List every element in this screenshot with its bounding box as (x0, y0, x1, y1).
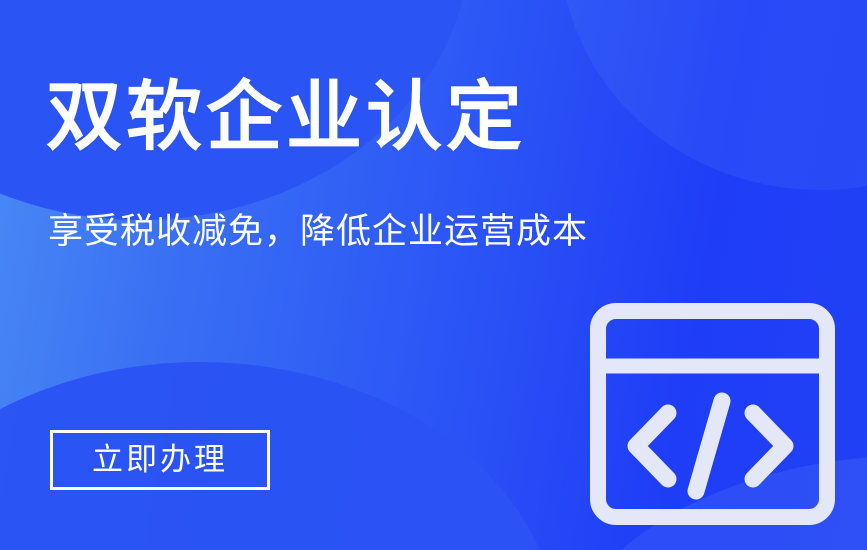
apply-now-button[interactable]: 立即办理 (50, 430, 270, 490)
code-window-icon (590, 303, 835, 525)
promo-banner: 双软企业认定 享受税收减免，降低企业运营成本 立即办理 (0, 0, 867, 550)
banner-subheadline: 享受税收减免，降低企业运营成本 (48, 212, 588, 252)
banner-headline: 双软企业认定 (46, 80, 526, 156)
banner-content: 双软企业认定 享受税收减免，降低企业运营成本 立即办理 (0, 0, 867, 550)
